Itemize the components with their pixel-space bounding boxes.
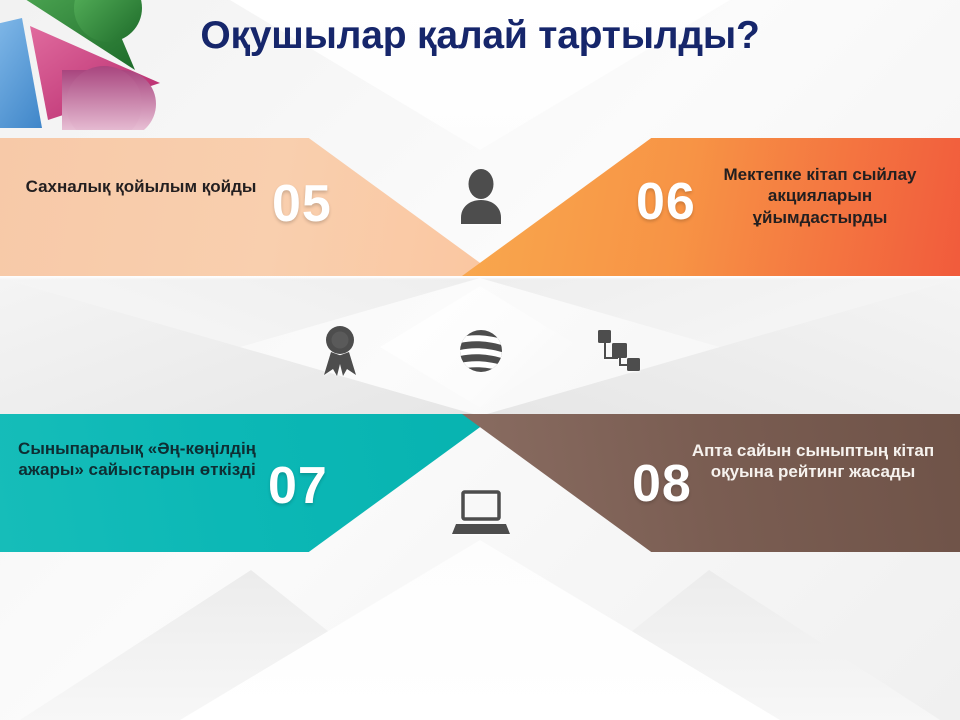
panel-07-label: Сыныпаралық «Әң-көңілдің ажары» сайыстар… [6,438,268,481]
bg-triangle-bottom-right [520,570,940,720]
panel-05-label: Сахналық қойылым қойды [18,176,264,197]
bg-triangle-bottom-left [20,570,440,720]
panel-08-label: Апта сайын сыныптың кітап оқуына рейтинг… [688,440,938,483]
panel-07[interactable]: Сыныпаралық «Әң-көңілдің ажары» сайыстар… [0,414,498,552]
panel-08-number: 08 [632,454,692,514]
page-title: Оқушылар қалай тартылды? [0,14,960,58]
panel-05[interactable]: Сахналық қойылым қойды 05 [0,138,498,276]
infographic-slide: Оқушылар қалай тартылды? Сахналық қойылы… [0,0,960,720]
person-icon [455,168,507,224]
bg-triangle-bottom [180,540,780,720]
panel-06-label: Мектепке кітап сыйлау акцияларын ұйымдас… [702,164,938,228]
panel-08[interactable]: Апта сайын сыныптың кітап оқуына рейтинг… [462,414,960,552]
panel-06[interactable]: Мектепке кітап сыйлау акцияларын ұйымдас… [462,138,960,276]
panel-06-number: 06 [636,172,696,232]
panel-05-number: 05 [272,174,332,234]
panel-07-number: 07 [268,456,328,516]
network-diagram-icon [592,328,642,374]
laptop-icon [452,488,510,540]
bg-highlight-band [0,276,960,280]
globe-icon [455,323,507,377]
award-ribbon-icon [318,325,362,377]
